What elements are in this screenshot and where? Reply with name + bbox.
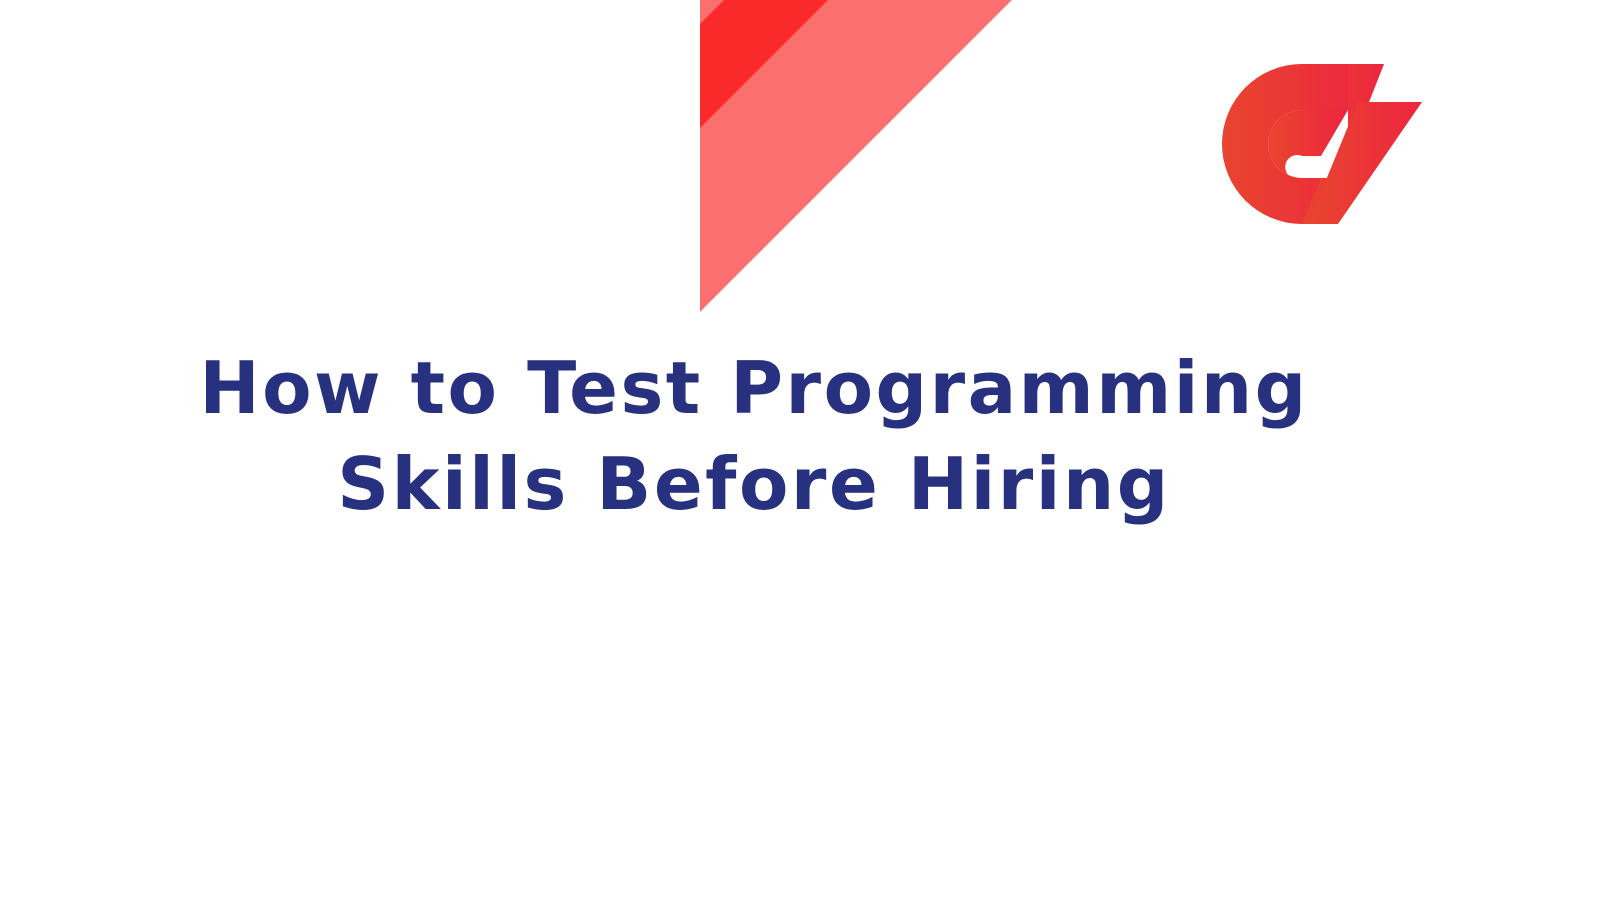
title-block: How to Test Programming Skills Before Hi… — [0, 340, 1508, 532]
brand-logo — [1198, 58, 1422, 230]
page-title: How to Test Programming Skills Before Hi… — [0, 340, 1508, 532]
slide-canvas: How to Test Programming Skills Before Hi… — [0, 0, 1600, 900]
